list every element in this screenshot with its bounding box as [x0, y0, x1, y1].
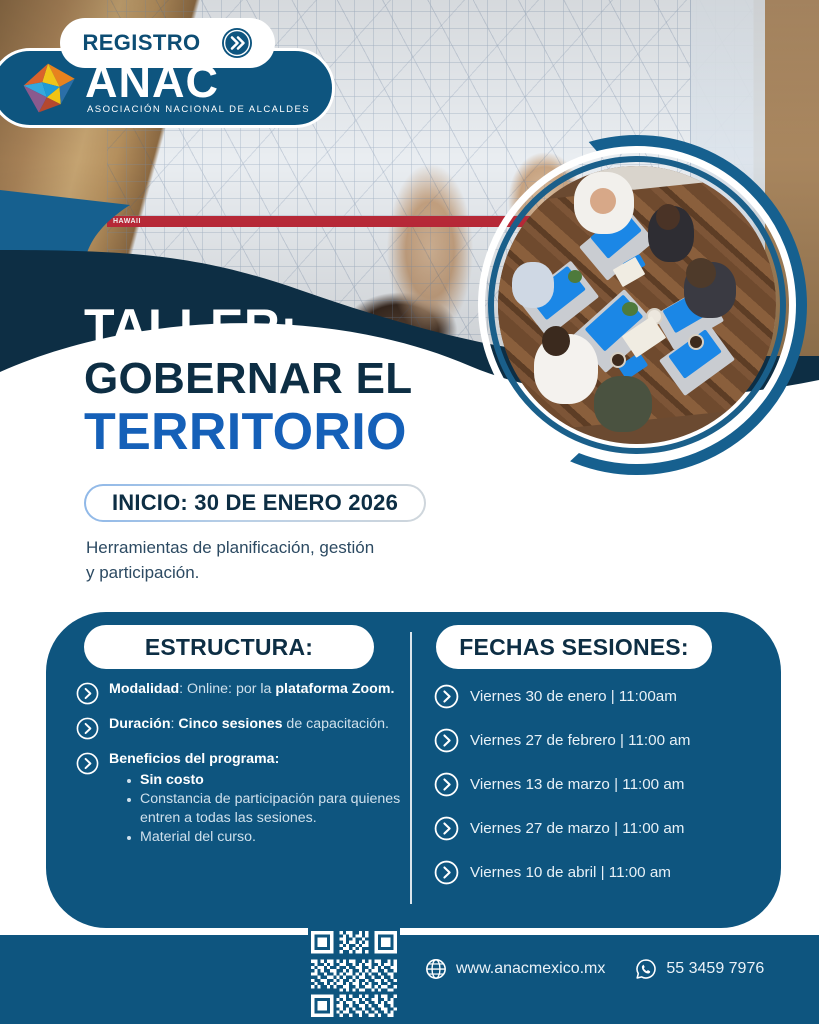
- list-item: Modalidad: Online: por la plataforma Zoo…: [76, 680, 406, 705]
- photo-person-head: [542, 326, 570, 356]
- session-date: Viernes 27 de marzo | 11:00 am: [470, 820, 684, 837]
- logo-text-block: ANAC ASOCIACIÓN NACIONAL DE ALCALDES: [85, 61, 310, 116]
- photo-person: [512, 262, 554, 308]
- list-item: Viernes 27 de febrero | 11:00 am: [434, 718, 764, 762]
- sessions-list: Viernes 30 de enero | 11:00am Viernes 27…: [434, 674, 764, 894]
- photo-mug: [688, 334, 704, 350]
- photo-plant: [568, 270, 582, 283]
- estructura-heading-pill: ESTRUCTURA:: [84, 625, 374, 669]
- team-meeting-photo: [498, 166, 776, 444]
- contact-info: www.anacmexico.mx 55 3459 7976: [425, 958, 764, 980]
- item-sep: :: [179, 681, 187, 697]
- website-group[interactable]: www.anacmexico.mx: [425, 958, 605, 980]
- item-bold: Cinco sesiones: [178, 716, 282, 732]
- photo-person-head: [590, 188, 616, 214]
- list-item: Duración: Cinco sesiones de capacitación…: [76, 715, 406, 740]
- photo-person-head: [686, 258, 716, 288]
- list-item-text: Duración: Cinco sesiones de capacitación…: [109, 715, 389, 734]
- list-item-text: Modalidad: Online: por la plataforma Zoo…: [109, 680, 394, 699]
- estructura-list: Modalidad: Online: por la plataforma Zoo…: [76, 680, 406, 857]
- session-date: Viernes 30 de enero | 11:00am: [470, 688, 677, 705]
- logo-subtitle: ASOCIACIÓN NACIONAL DE ALCALDES: [85, 103, 310, 116]
- photo-plant: [622, 302, 638, 316]
- chevron-circle-right-icon: [76, 682, 99, 705]
- whatsapp-icon: [635, 958, 657, 980]
- anac-triangle-logo-icon: [19, 59, 77, 117]
- fechas-heading-pill: FECHAS SESIONES:: [436, 625, 712, 669]
- start-date-badge: INICIO: 30 DE ENERO 2026: [84, 484, 426, 522]
- chevron-circle-right-icon: [434, 816, 459, 841]
- photo-person: [594, 376, 652, 432]
- chevron-circle-right-icon: [434, 728, 459, 753]
- item-label: Beneficios del programa:: [109, 751, 279, 767]
- photo-mug: [610, 352, 626, 368]
- list-item: Sin costo: [127, 771, 406, 790]
- list-item: Material del curso.: [127, 828, 406, 847]
- chevron-circle-right-icon: [434, 860, 459, 885]
- chevron-circle-right-icon: [434, 684, 459, 709]
- globe-icon: [425, 958, 447, 980]
- double-chevron-right-icon: [221, 27, 253, 59]
- session-date: Viernes 10 de abril | 11:00 am: [470, 864, 671, 881]
- registro-button[interactable]: REGISTRO: [60, 18, 275, 68]
- chevron-circle-right-icon: [434, 772, 459, 797]
- subtitle-line-2: y participación.: [86, 560, 486, 585]
- list-item-text: Beneficios del programa: Sin costo Const…: [109, 750, 406, 847]
- title-line-territorio: TERRITORIO: [84, 404, 504, 460]
- chevron-circle-right-icon: [76, 717, 99, 740]
- subtitle-block: Herramientas de planificación, gestión y…: [86, 535, 486, 585]
- title-block: TALLER: GOBERNAR EL TERRITORIO: [84, 300, 504, 460]
- circle-photo-wrap: [487, 155, 787, 455]
- item-label: Modalidad: [109, 681, 179, 697]
- info-panel: ESTRUCTURA: FECHAS SESIONES: Modalidad: …: [46, 612, 781, 928]
- list-item: Viernes 30 de enero | 11:00am: [434, 674, 764, 718]
- list-item: Beneficios del programa: Sin costo Const…: [76, 750, 406, 847]
- list-item: Constancia de participación para quienes…: [127, 790, 406, 828]
- session-date: Viernes 27 de febrero | 11:00 am: [470, 732, 690, 749]
- chevron-circle-right-icon: [76, 752, 99, 775]
- qr-code-icon[interactable]: [308, 928, 400, 1020]
- panel-divider: [410, 632, 412, 904]
- item-label: Duración: [109, 716, 171, 732]
- session-date: Viernes 13 de marzo | 11:00 am: [470, 776, 684, 793]
- photo-person-head: [656, 204, 680, 230]
- item-plain: de capacitación.: [282, 716, 388, 732]
- item-bold: plataforma Zoom.: [275, 681, 394, 697]
- title-line-taller: TALLER:: [84, 300, 504, 354]
- benefits-sublist: Sin costo Constancia de participación pa…: [127, 771, 406, 847]
- whatsapp-group[interactable]: 55 3459 7976: [635, 958, 764, 980]
- title-line-gobernar: GOBERNAR EL: [84, 354, 504, 404]
- registro-button-label: REGISTRO: [82, 30, 200, 56]
- phone-text: 55 3459 7976: [666, 960, 764, 978]
- website-text: www.anacmexico.mx: [456, 960, 605, 978]
- subtitle-line-1: Herramientas de planificación, gestión: [86, 535, 486, 560]
- list-item: Viernes 10 de abril | 11:00 am: [434, 850, 764, 894]
- list-item: Viernes 27 de marzo | 11:00 am: [434, 806, 764, 850]
- item-plain: Online: por la: [187, 681, 275, 697]
- poster-root: HAWAII ANAC ASOCIACIÓN NACIONAL DE ALCAL…: [0, 0, 819, 1024]
- list-item: Viernes 13 de marzo | 11:00 am: [434, 762, 764, 806]
